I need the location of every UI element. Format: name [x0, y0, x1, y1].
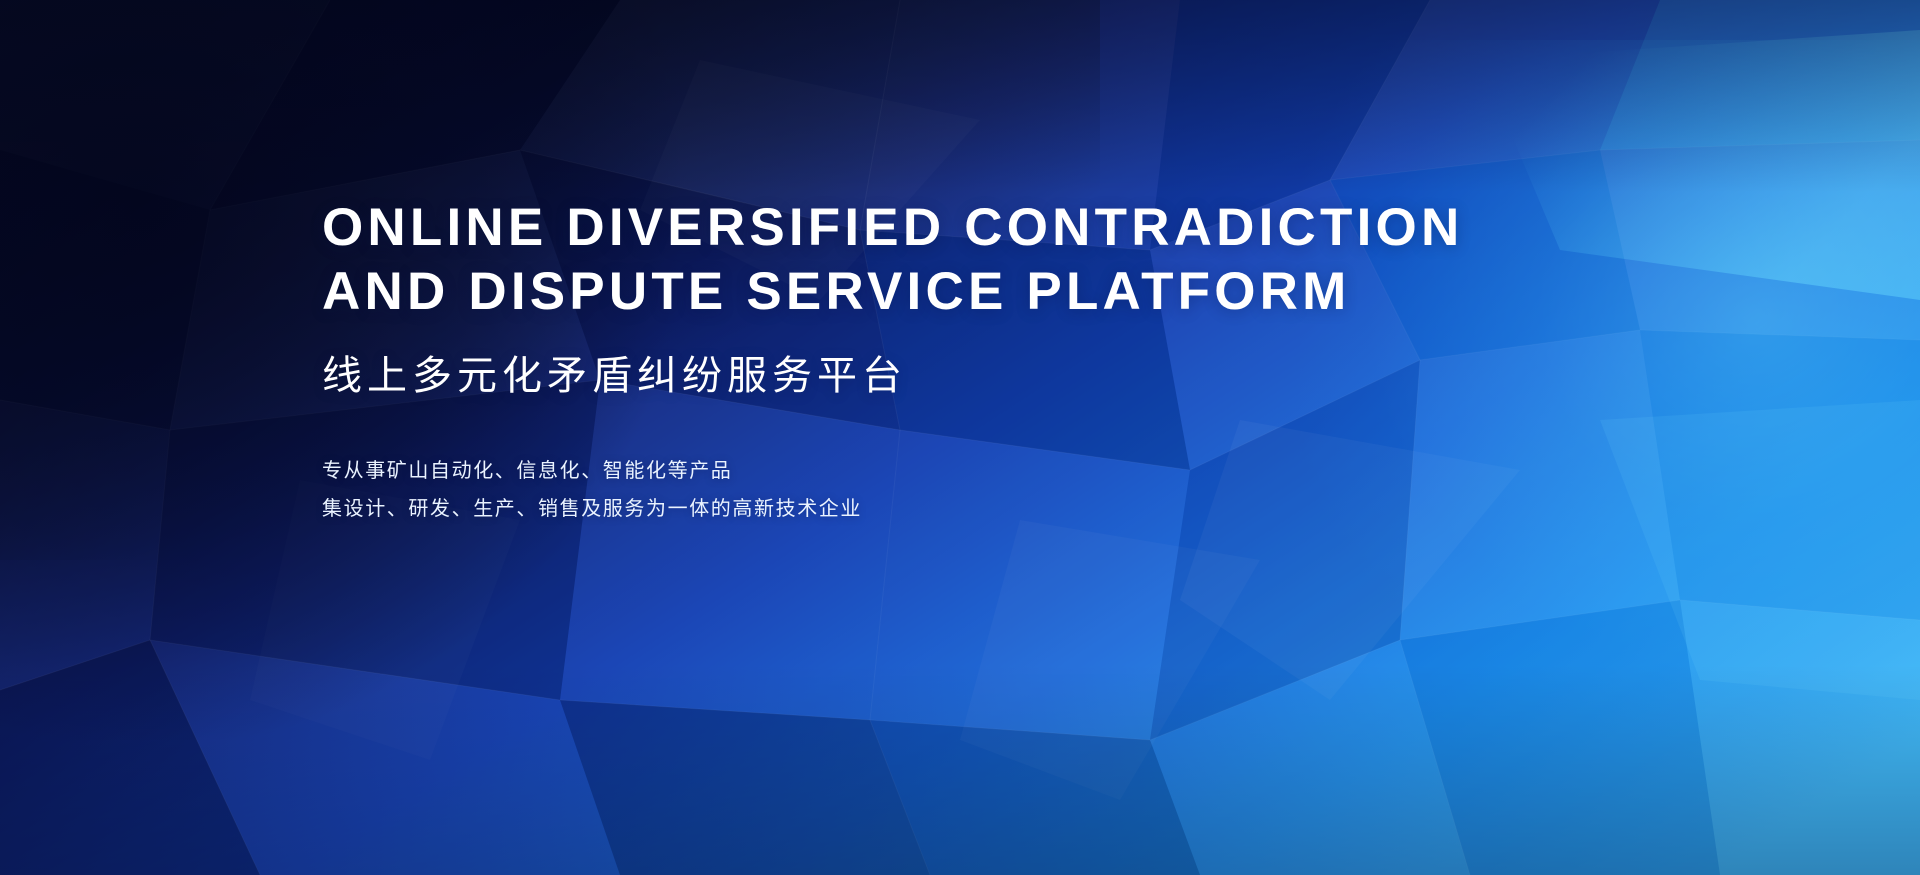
banner-title-chinese: 线上多元化矛盾纠纷服务平台 [322, 350, 1672, 402]
hero-banner: ONLINE DIVERSIFIED CONTRADICTION AND DIS… [0, 0, 1920, 875]
banner-title-english: ONLINE DIVERSIFIED CONTRADICTION AND DIS… [322, 196, 1672, 324]
banner-content: ONLINE DIVERSIFIED CONTRADICTION AND DIS… [322, 196, 1672, 528]
banner-description-line-2: 集设计、研发、生产、销售及服务为一体的高新技术企业 [322, 490, 1672, 528]
banner-title-english-line-2: AND DISPUTE SERVICE PLATFORM [322, 260, 1672, 324]
banner-description: 专从事矿山自动化、信息化、智能化等产品 集设计、研发、生产、销售及服务为一体的高… [322, 452, 1672, 528]
banner-title-english-line-1: ONLINE DIVERSIFIED CONTRADICTION [322, 196, 1672, 260]
banner-description-line-1: 专从事矿山自动化、信息化、智能化等产品 [322, 452, 1672, 490]
